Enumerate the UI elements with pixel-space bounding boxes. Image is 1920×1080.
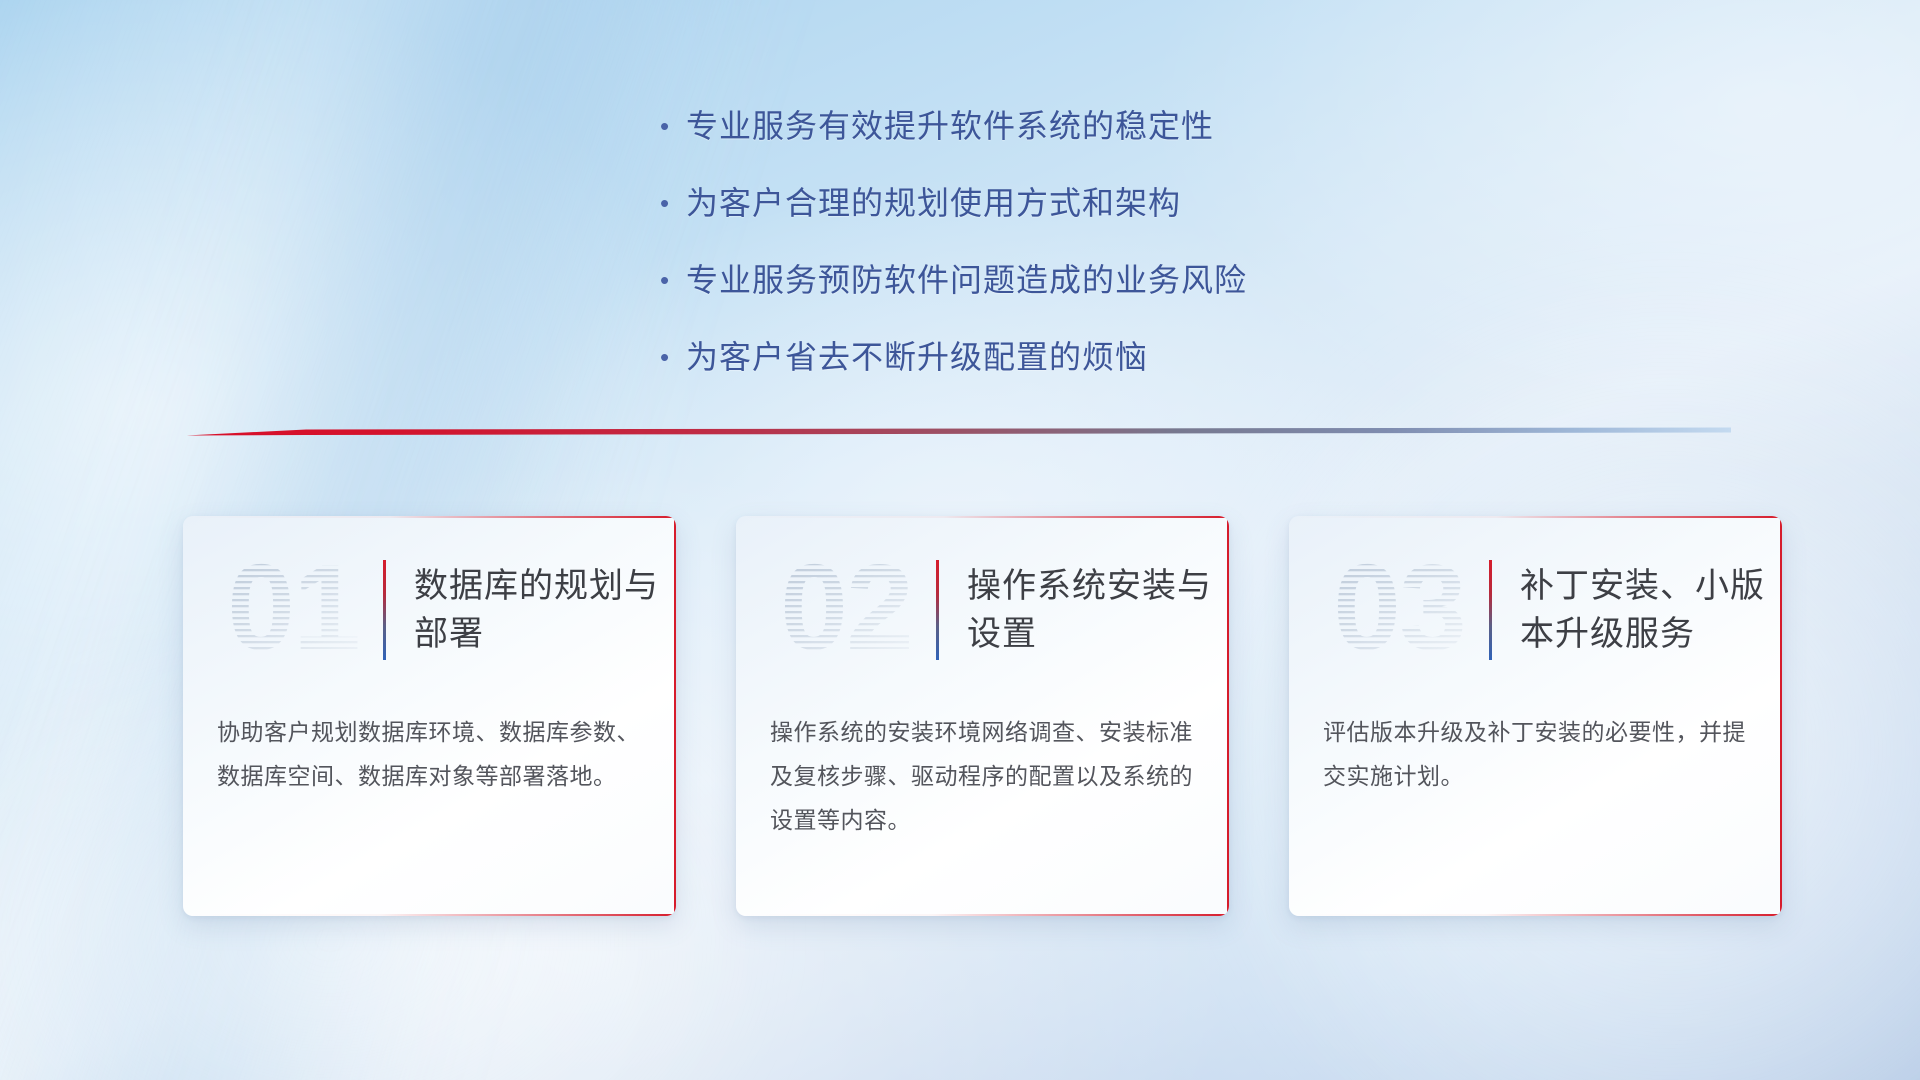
bullet-item: • 专业服务预防软件问题造成的业务风险: [660, 258, 1480, 302]
card-title: 操作系统安装与设置: [967, 562, 1229, 658]
bullet-item: • 专业服务有效提升软件系统的稳定性: [660, 104, 1480, 148]
card-number-01-icon: 01: [209, 545, 377, 675]
bullet-dot-icon: •: [660, 335, 686, 379]
card-title: 数据库的规划与部署: [414, 562, 676, 658]
slide-canvas: • 专业服务有效提升软件系统的稳定性 • 为客户合理的规划使用方式和架构 • 专…: [0, 0, 1920, 1080]
bullet-text: 为客户合理的规划使用方式和架构: [686, 181, 1181, 225]
tapered-divider: [186, 422, 1731, 444]
bullet-text: 专业服务有效提升软件系统的稳定性: [686, 104, 1214, 148]
svg-text:01: 01: [227, 545, 359, 675]
card-number-03-icon: 03: [1315, 545, 1483, 675]
bullet-dot-icon: •: [660, 181, 686, 225]
card-number-02-icon: 02: [762, 545, 930, 675]
card-edge-bottom: [736, 914, 1229, 916]
svg-text:02: 02: [780, 545, 912, 675]
service-card-02[interactable]: 02 操作系统安装与设置 操作系统的安装环境网络调查、安装标准及复核步骤、驱动程…: [736, 516, 1229, 916]
card-header: 02 操作系统安装与设置: [736, 516, 1229, 704]
striped-number-glyph-icon: 02: [762, 545, 930, 675]
striped-number-glyph-icon: 01: [209, 545, 377, 675]
card-title: 补丁安装、小版本升级服务: [1520, 562, 1782, 658]
card-header: 01 数据库的规划与部署: [183, 516, 676, 704]
card-header: 03 补丁安装、小版本升级服务: [1289, 516, 1782, 704]
card-description: 协助客户规划数据库环境、数据库参数、数据库空间、数据库对象等部署落地。: [183, 704, 676, 798]
card-accent-rule: [383, 560, 386, 660]
card-description: 操作系统的安装环境网络调查、安装标准及复核步骤、驱动程序的配置以及系统的设置等内…: [736, 704, 1229, 842]
bullet-dot-icon: •: [660, 104, 686, 148]
bullet-dot-icon: •: [660, 258, 686, 302]
card-description: 评估版本升级及补丁安装的必要性，并提交实施计划。: [1289, 704, 1782, 798]
bullet-text: 为客户省去不断升级配置的烦恼: [686, 335, 1148, 379]
card-accent-rule: [936, 560, 939, 660]
bullet-item: • 为客户合理的规划使用方式和架构: [660, 181, 1480, 225]
benefits-bullet-list: • 专业服务有效提升软件系统的稳定性 • 为客户合理的规划使用方式和架构 • 专…: [660, 104, 1480, 412]
bullet-text: 专业服务预防软件问题造成的业务风险: [686, 258, 1247, 302]
card-edge-bottom: [1289, 914, 1782, 916]
card-edge-bottom: [183, 914, 676, 916]
bullet-item: • 为客户省去不断升级配置的烦恼: [660, 335, 1480, 379]
service-card-row: 01 数据库的规划与部署 协助客户规划数据库环境、数据库参数、数据库空间、数据库…: [183, 516, 1783, 920]
service-card-01[interactable]: 01 数据库的规划与部署 协助客户规划数据库环境、数据库参数、数据库空间、数据库…: [183, 516, 676, 916]
card-accent-rule: [1489, 560, 1492, 660]
svg-text:03: 03: [1333, 545, 1465, 675]
divider-shape-icon: [186, 422, 1731, 444]
striped-number-glyph-icon: 03: [1315, 545, 1483, 675]
service-card-03[interactable]: 03 补丁安装、小版本升级服务 评估版本升级及补丁安装的必要性，并提交实施计划。: [1289, 516, 1782, 916]
